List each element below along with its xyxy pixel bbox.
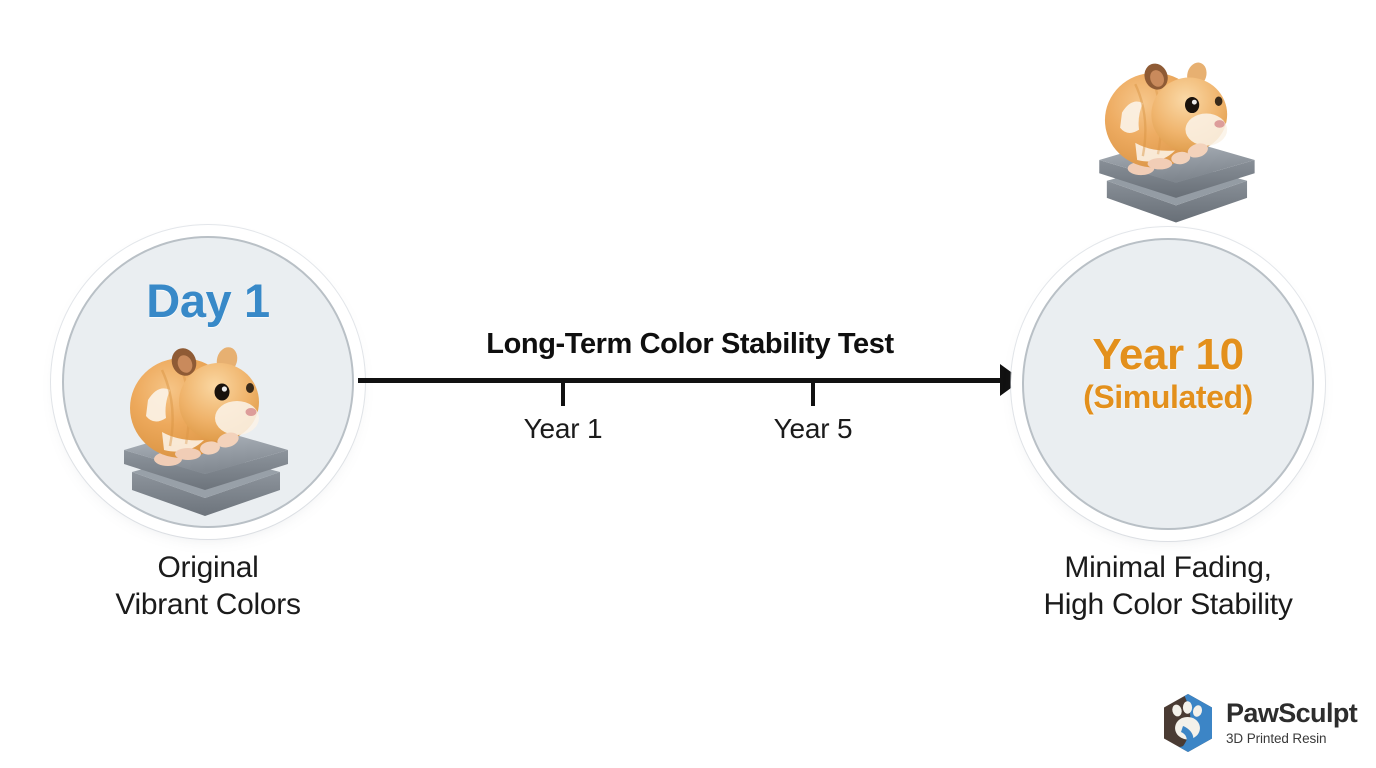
caption-day1-line2: Vibrant Colors xyxy=(58,587,358,624)
badge-label-day1: Day 1 xyxy=(64,276,352,326)
brand-logo: PawSculpt 3D Printed Resin xyxy=(1159,693,1357,753)
stage-badge-year10: Year 10 (Simulated) xyxy=(1022,238,1314,530)
badge-label-year10-line1: Year 10 xyxy=(1024,332,1312,379)
timeline-title: Long-Term Color Stability Test xyxy=(398,328,982,361)
logo-text-block: PawSculpt 3D Printed Resin xyxy=(1226,700,1357,746)
logo-name: PawSculpt xyxy=(1226,700,1357,727)
hamster-figurine-day1 xyxy=(110,340,300,520)
logo-tagline: 3D Printed Resin xyxy=(1226,732,1357,746)
timeline-tick-label-year1: Year 1 xyxy=(483,413,643,445)
caption-year10-line2: High Color Stability xyxy=(1012,587,1324,624)
timeline-arrow-head-icon xyxy=(1000,364,1022,396)
timeline-tick-year5 xyxy=(811,381,815,406)
caption-year10: Minimal Fading, High Color Stability xyxy=(1012,550,1324,623)
badge-label-year10: Year 10 (Simulated) xyxy=(1024,332,1312,415)
timeline-axis-line xyxy=(358,378,1006,383)
caption-day1-line1: Original xyxy=(58,550,358,587)
badge-label-year10-line2: (Simulated) xyxy=(1024,381,1312,415)
infographic-canvas: Day 1 xyxy=(0,0,1376,768)
caption-day1: Original Vibrant Colors xyxy=(58,550,358,623)
caption-year10-line1: Minimal Fading, xyxy=(1012,550,1324,587)
hamster-figurine-year10 xyxy=(1086,55,1266,227)
timeline-tick-label-year5: Year 5 xyxy=(733,413,893,445)
timeline-tick-year1 xyxy=(561,381,565,406)
pawsculpt-logo-icon xyxy=(1159,693,1217,753)
